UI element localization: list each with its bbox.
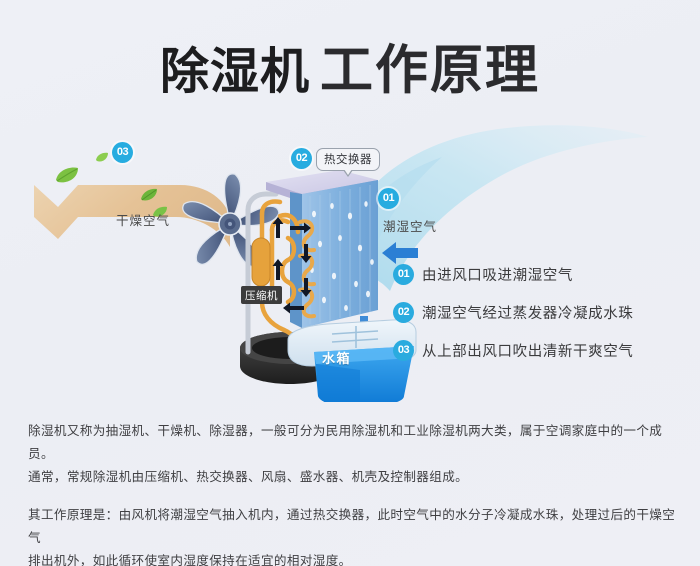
leaf-icon-mid (140, 188, 158, 202)
page-title-part-1: 除湿机 (160, 45, 310, 99)
paragraph-2-line-2: 排出机外，如此循环使室内湿度保持在适宜的相对湿度。 (28, 550, 678, 566)
heat-exchanger-badge: 02 (291, 148, 312, 169)
legend-badge-02: 02 (393, 302, 414, 323)
paragraph-1-line-1: 除湿机又称为抽湿机、干燥机、除湿器，一般可分为民用除湿机和工业除湿机两大类，属于… (28, 420, 678, 466)
dry-air-label: 干燥空气 (116, 210, 170, 229)
humid-air-badge: 01 (378, 188, 399, 209)
dry-air-badge: 03 (112, 142, 133, 163)
legend-item-02: 02 潮湿空气经过蒸发器冷凝成水珠 (393, 293, 693, 331)
body-copy: 除湿机又称为抽湿机、干燥机、除湿器，一般可分为民用除湿机和工业除湿机两大类，属于… (28, 420, 678, 566)
leaf-icon-small (95, 152, 109, 163)
heat-exchanger-label: 热交换器 (324, 154, 372, 166)
legend-item-03: 03 从上部出风口吹出清新干爽空气 (393, 331, 693, 369)
paragraph-2-line-1: 其工作原理是：由风机将潮湿空气抽入机内，通过热交换器，此时空气中的水分子冷凝成水… (28, 504, 678, 550)
humid-air-label: 潮湿空气 (383, 216, 437, 235)
legend-text-01: 由进风口吸进潮湿空气 (422, 264, 573, 285)
legend-item-01: 01 由进风口吸进潮湿空气 (393, 255, 693, 293)
heat-exchanger-callout: 热交换器 (316, 148, 380, 171)
legend-list: 01 由进风口吸进潮湿空气 02 潮湿空气经过蒸发器冷凝成水珠 03 从上部出风… (393, 255, 693, 369)
callout-tail-icon (343, 170, 353, 177)
page-title: 除湿机工作原理 (0, 28, 700, 104)
infographic-page: 除湿机工作原理 (0, 0, 700, 566)
water-tank-label: 水箱 (322, 348, 351, 367)
leaf-icon (54, 166, 80, 184)
legend-badge-03: 03 (393, 340, 414, 361)
compressor-label: 压缩机 (241, 286, 282, 304)
paragraph-spacer (28, 489, 678, 504)
page-title-part-2: 工作原理 (320, 42, 540, 100)
legend-text-03: 从上部出风口吹出清新干爽空气 (422, 340, 633, 361)
legend-text-02: 潮湿空气经过蒸发器冷凝成水珠 (422, 302, 633, 323)
paragraph-1-line-2: 通常，常规除湿机由压缩机、热交换器、风扇、盛水器、机壳及控制器组成。 (28, 466, 678, 489)
legend-badge-01: 01 (393, 264, 414, 285)
